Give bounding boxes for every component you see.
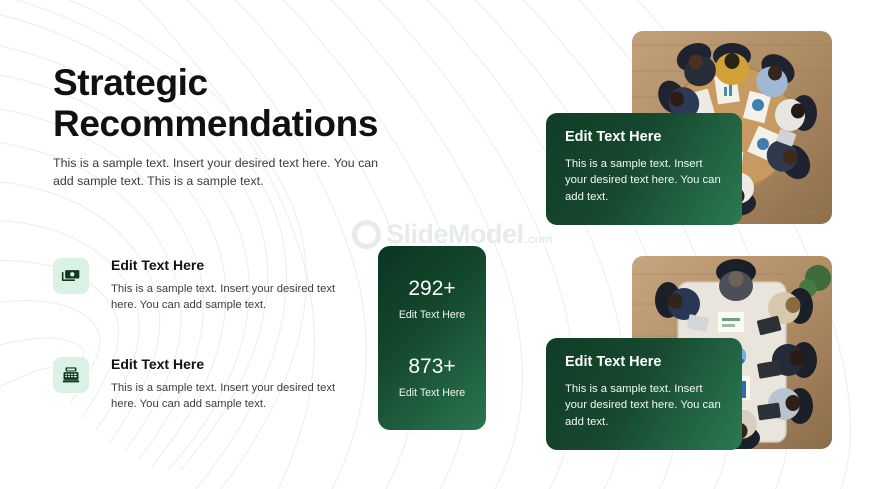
slide-subtitle: This is a sample text. Insert your desir… xyxy=(53,155,383,190)
page-title: Strategic Recommendations xyxy=(53,62,413,145)
stat-item-2: 873+ Edit Text Here xyxy=(399,356,465,399)
feature-title: Edit Text Here xyxy=(111,356,343,372)
feature-title: Edit Text Here xyxy=(111,257,343,273)
slide-title-line-2: Recommendations xyxy=(53,103,378,144)
stat-item-1: 292+ Edit Text Here xyxy=(399,278,465,321)
text-card-bottom: Edit Text Here This is a sample text. In… xyxy=(546,338,742,450)
text-card-title: Edit Text Here xyxy=(565,129,723,145)
stat-label: Edit Text Here xyxy=(399,309,465,321)
slide-canvas: Strategic Recommendations This is a samp… xyxy=(0,0,870,489)
text-card-title: Edit Text Here xyxy=(565,354,723,370)
cash-register-icon xyxy=(53,357,89,393)
slide-title-line-1: Strategic xyxy=(53,62,208,103)
feature-item-1: Edit Text Here This is a sample text. In… xyxy=(53,256,353,313)
feature-description: This is a sample text. Insert your desir… xyxy=(111,281,343,313)
money-bills-icon xyxy=(53,258,89,294)
feature-text-2: Edit Text Here This is a sample text. In… xyxy=(111,355,343,412)
stat-label: Edit Text Here xyxy=(399,387,465,399)
slide-title: Strategic Recommendations xyxy=(53,62,413,145)
stat-number: 292+ xyxy=(399,278,465,299)
text-card-top: Edit Text Here This is a sample text. In… xyxy=(546,113,742,225)
stats-card: 292+ Edit Text Here 873+ Edit Text Here xyxy=(378,246,486,430)
feature-description: This is a sample text. Insert your desir… xyxy=(111,380,343,412)
feature-item-2: Edit Text Here This is a sample text. In… xyxy=(53,355,353,412)
text-card-body: This is a sample text. Insert your desir… xyxy=(565,156,723,205)
stat-number: 873+ xyxy=(399,356,465,377)
watermark-tld: .com xyxy=(525,232,553,246)
watermark-logo-icon xyxy=(352,220,381,249)
text-card-body: This is a sample text. Insert your desir… xyxy=(565,381,723,430)
feature-text-1: Edit Text Here This is a sample text. In… xyxy=(111,256,343,313)
